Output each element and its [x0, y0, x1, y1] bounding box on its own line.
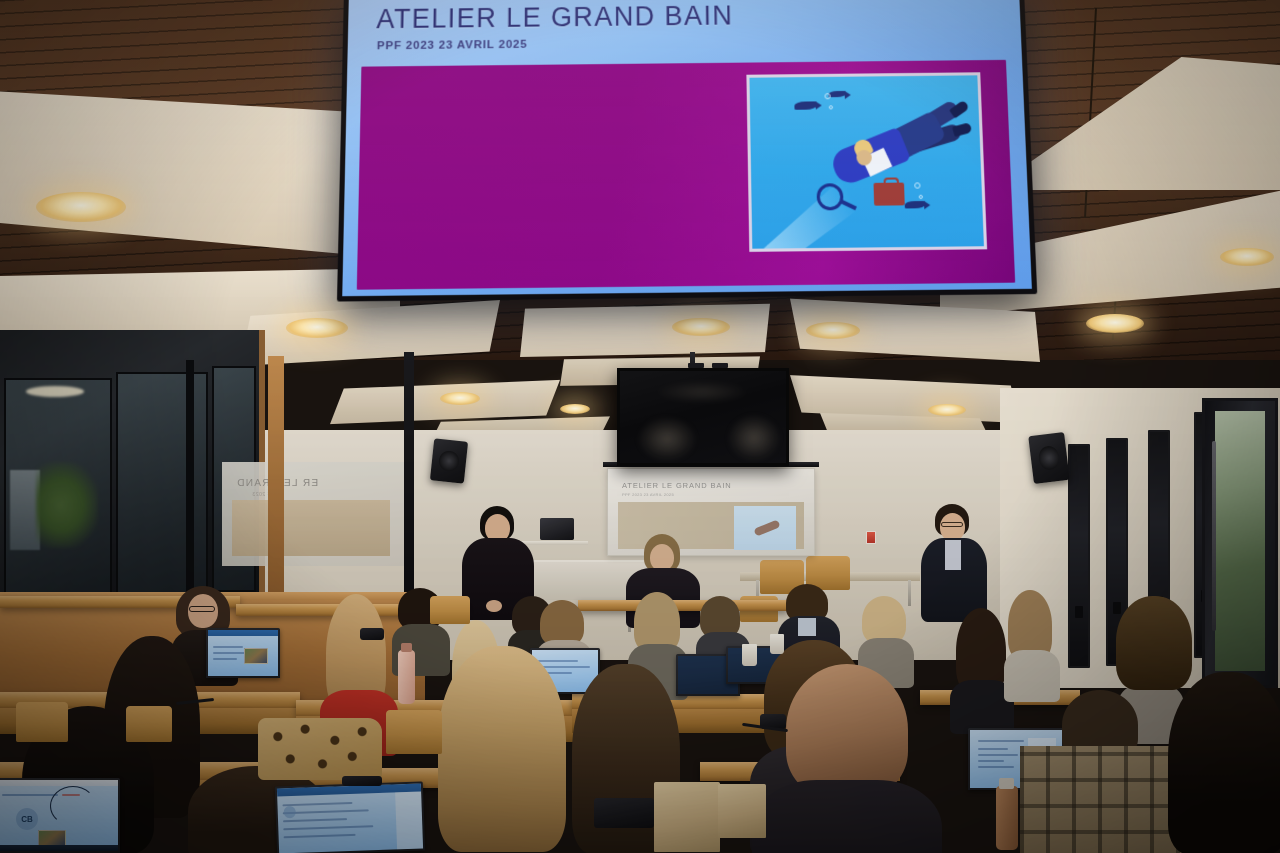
user-avatar[interactable]: CB — [16, 808, 38, 830]
laptop-screen[interactable] — [208, 630, 278, 676]
wooden-chair[interactable] — [16, 702, 68, 742]
plaid-shirt — [1020, 746, 1190, 853]
wall-screen-subtitle: PPF 2023 23 AVRIL 2025 — [622, 492, 674, 497]
laptop-row2-left[interactable] — [206, 628, 280, 680]
hair — [862, 596, 906, 644]
device-box — [594, 798, 654, 828]
wall-speaker — [1028, 432, 1070, 484]
fire-alarm-icon — [866, 531, 876, 544]
bottle-cap — [401, 643, 412, 652]
laptop-bottom-left[interactable]: CB — [0, 778, 120, 853]
email-reading-pane — [395, 791, 423, 849]
sender-avatar — [284, 806, 296, 818]
smartphone[interactable] — [342, 776, 382, 786]
exterior-glass-door[interactable] — [1202, 398, 1278, 688]
email-row[interactable] — [282, 802, 352, 806]
hair — [438, 646, 566, 852]
glass-reflection-light — [26, 386, 84, 397]
screen-toolbar — [208, 630, 278, 636]
ceiling-hung-monitor[interactable] — [617, 368, 789, 466]
paper-cup[interactable] — [742, 644, 757, 666]
window-handle[interactable] — [1075, 606, 1083, 618]
bubble-icon — [914, 182, 920, 188]
screen-text-line — [978, 760, 1004, 762]
email-row[interactable] — [283, 818, 347, 822]
water-bottle-copper[interactable] — [996, 786, 1018, 850]
hair — [634, 592, 680, 652]
screen-thumbnail — [38, 830, 66, 846]
device-box — [360, 628, 384, 640]
torso — [752, 780, 942, 853]
lecture-hall-photo: ER LE GRAND PPF 2023 ATELIER LE GRAND BA… — [0, 0, 1280, 853]
ceiling-downlight — [560, 404, 590, 414]
narrow-window — [1068, 444, 1090, 668]
glass-mullion — [404, 352, 414, 602]
desk-row-3 — [578, 600, 788, 611]
laptop-lid: CB — [0, 778, 120, 853]
hair — [1168, 672, 1280, 853]
slide-illustration-diver — [746, 72, 987, 252]
ceiling-downlight — [36, 192, 126, 222]
main-projection-screen: ATELIER LE GRAND BAIN PPF 2023 23 AVRIL … — [337, 0, 1037, 302]
presenter-head — [650, 544, 674, 571]
hair — [1116, 596, 1192, 690]
bubble-icon — [824, 93, 830, 99]
presentation-slide: ATELIER LE GRAND BAIN PPF 2023 23 AVRIL … — [342, 0, 1032, 296]
torso — [1004, 650, 1060, 702]
paper-bag — [718, 784, 766, 838]
glasses-icon — [189, 606, 215, 612]
screen-text-line — [978, 748, 1008, 750]
paper-cup[interactable] — [770, 634, 784, 654]
slide-subtitle: PPF 2023 23 AVRIL 2025 — [377, 39, 528, 53]
ceiling-downlight — [286, 318, 348, 338]
ceiling-downlight — [806, 322, 860, 339]
ceiling-panel — [520, 300, 770, 362]
ceiling-downlight — [440, 392, 480, 405]
browser-toolbar — [0, 780, 118, 786]
screen-text-line — [538, 660, 578, 662]
wooden-chair[interactable] — [126, 706, 172, 742]
laptop-screen[interactable] — [277, 784, 423, 853]
flashlight-icon — [816, 183, 843, 210]
paper-bag — [654, 782, 720, 852]
fish-icon — [794, 101, 816, 109]
ceiling-downlight — [1220, 248, 1274, 266]
door-glass-pane — [1215, 411, 1265, 671]
wall-projection-screen: ATELIER LE GRAND BAIN PPF 2023 23 AVRIL … — [607, 468, 815, 556]
email-row[interactable] — [283, 825, 373, 830]
screen-text-line — [978, 766, 1014, 768]
diver-head — [856, 150, 872, 166]
front-wall-monitor — [540, 518, 574, 540]
screen-text-line — [2, 794, 58, 796]
leopard-print-jacket — [258, 718, 382, 780]
monitor-reflection — [728, 415, 780, 461]
glass-reflection-tree — [36, 462, 98, 548]
slide-accent-band — [357, 60, 1015, 290]
presenter-shirt — [945, 540, 961, 570]
glass-mullion — [186, 360, 194, 596]
laptop-bottom-center[interactable] — [276, 784, 424, 853]
screen-text-line — [213, 646, 243, 648]
water-bottle-pink[interactable] — [398, 650, 415, 704]
window-handle[interactable] — [1113, 602, 1121, 614]
monitor-reflection — [638, 417, 696, 461]
wall-screen-diver-icon — [753, 519, 780, 536]
screen-graphic-curve — [50, 786, 96, 826]
ceiling-downlight — [672, 318, 730, 336]
laptop-screen[interactable]: CB — [0, 780, 118, 851]
fish-icon — [828, 91, 845, 97]
fish-icon — [905, 201, 926, 208]
wall-speaker — [430, 438, 468, 483]
screen-text-line — [978, 740, 1024, 742]
email-row[interactable] — [284, 834, 356, 838]
bubble-icon — [829, 105, 833, 109]
wooden-chair[interactable] — [386, 710, 442, 754]
desk-leg — [908, 580, 911, 606]
screen-text-line — [978, 754, 1018, 756]
monitor-reflection — [656, 381, 748, 403]
presenter-head — [940, 513, 965, 541]
bubble-icon — [919, 195, 923, 199]
glasses-icon — [941, 522, 963, 527]
taskbar[interactable] — [0, 845, 118, 851]
slide-title: ATELIER LE GRAND BAIN — [376, 0, 734, 35]
wall-screen-illustration — [734, 506, 796, 550]
head — [786, 664, 908, 796]
glass-pane — [116, 372, 208, 594]
glass-reflected-slide-band — [232, 500, 390, 556]
shirt-collar — [798, 618, 816, 636]
glass-mullion — [268, 356, 284, 606]
briefcase-icon — [873, 183, 904, 206]
wooden-chair[interactable] — [430, 596, 470, 624]
laptop-lid — [275, 781, 425, 853]
presenter-hand — [486, 600, 502, 612]
ceiling-downlight — [1086, 314, 1144, 333]
door-push-bar[interactable] — [1212, 441, 1216, 631]
screen-thumbnail — [244, 648, 268, 664]
screen-text-line — [213, 658, 237, 660]
screen-text-line — [538, 666, 590, 668]
bottle-cap — [999, 778, 1014, 789]
laptop-lid — [206, 628, 280, 678]
wall-screen-title: ATELIER LE GRAND BAIN — [622, 481, 732, 490]
ceiling-downlight — [928, 404, 966, 416]
